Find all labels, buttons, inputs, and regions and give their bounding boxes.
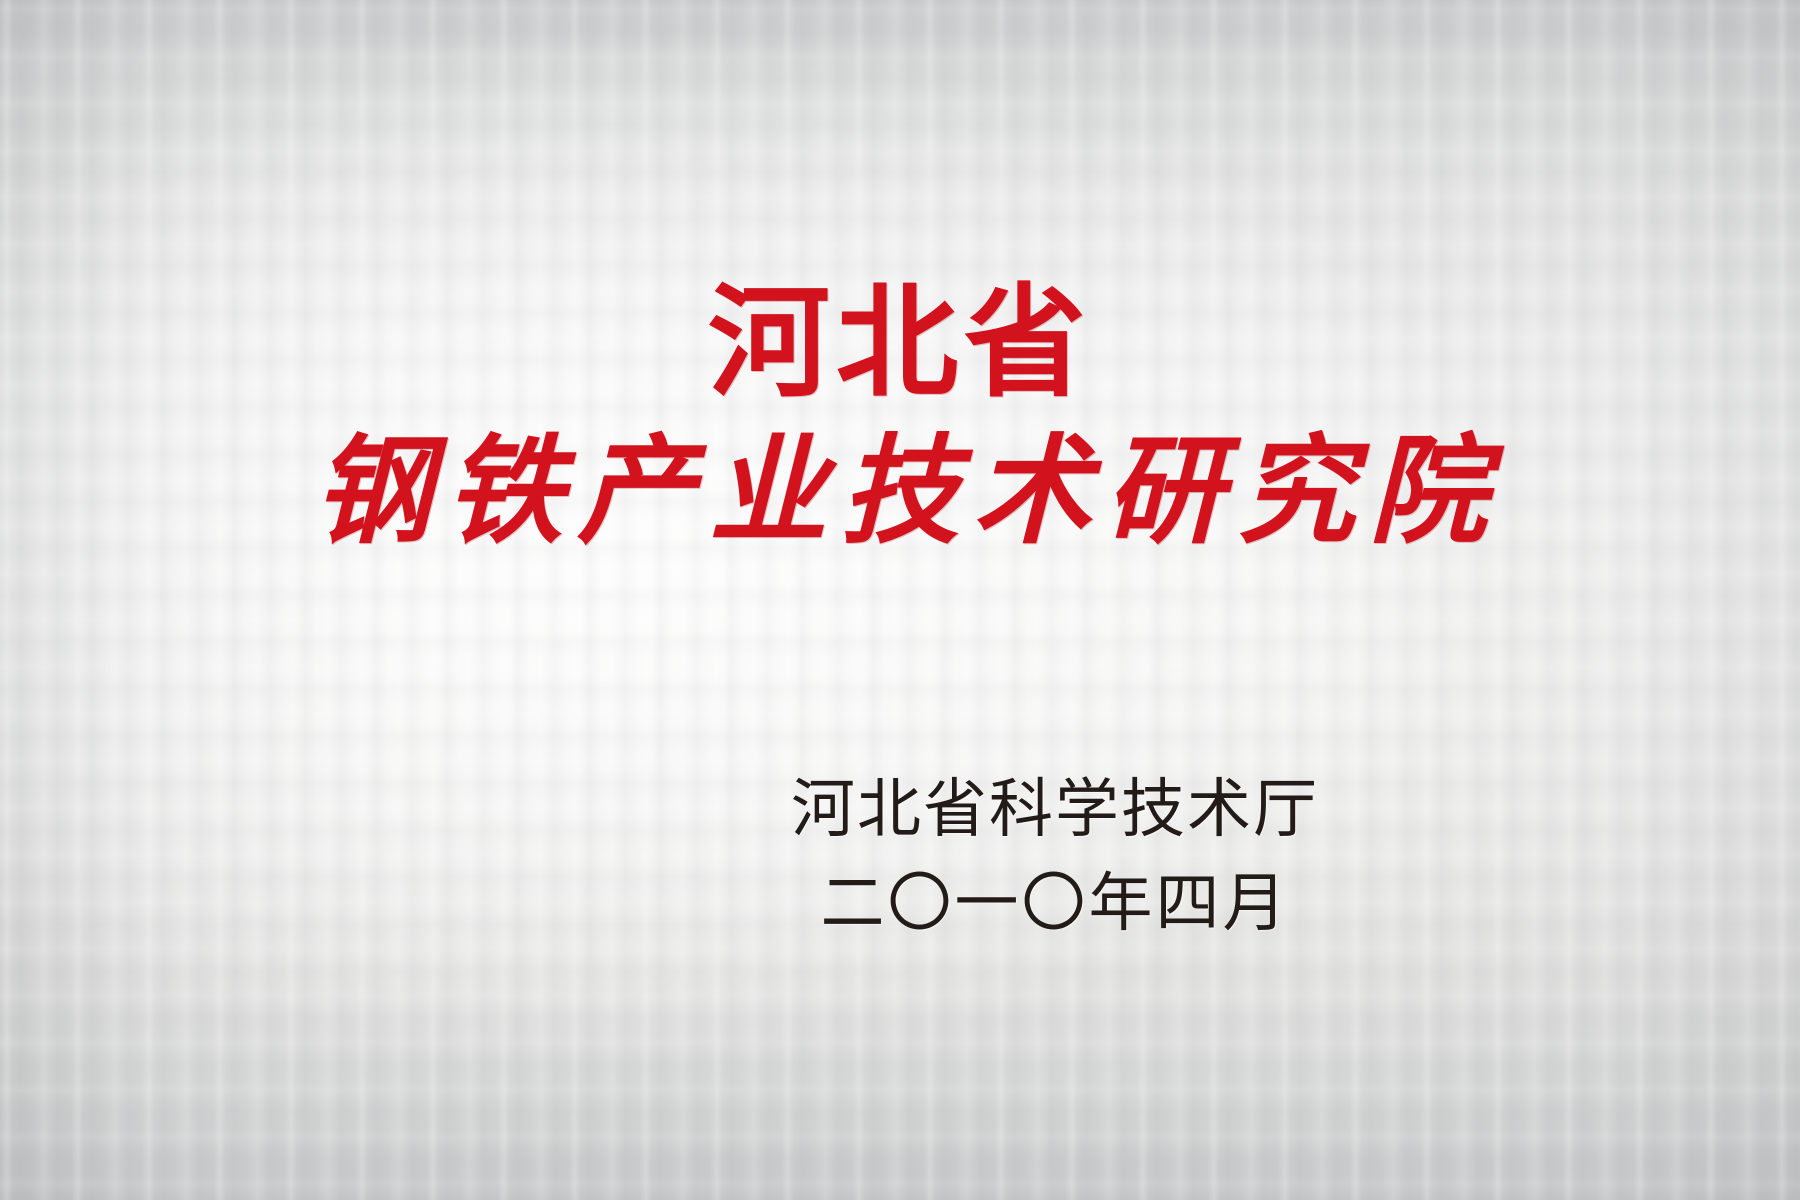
title-line-primary: 河北省 [0,278,1800,407]
slide-byline: 河北省科学技术厅 二〇一〇年四月 [0,770,1800,946]
byline-date: 二〇一〇年四月 [310,864,1800,946]
byline-organization: 河北省科学技术厅 [310,770,1800,852]
slide-title: 河北省 钢铁产业技术研究院 [0,278,1800,557]
title-line-secondary: 钢铁产业技术研究院 [0,425,1800,557]
slide-content: 河北省 钢铁产业技术研究院 河北省科学技术厅 二〇一〇年四月 [0,0,1800,1200]
title-slide: 河北省 钢铁产业技术研究院 河北省科学技术厅 二〇一〇年四月 [0,0,1800,1200]
